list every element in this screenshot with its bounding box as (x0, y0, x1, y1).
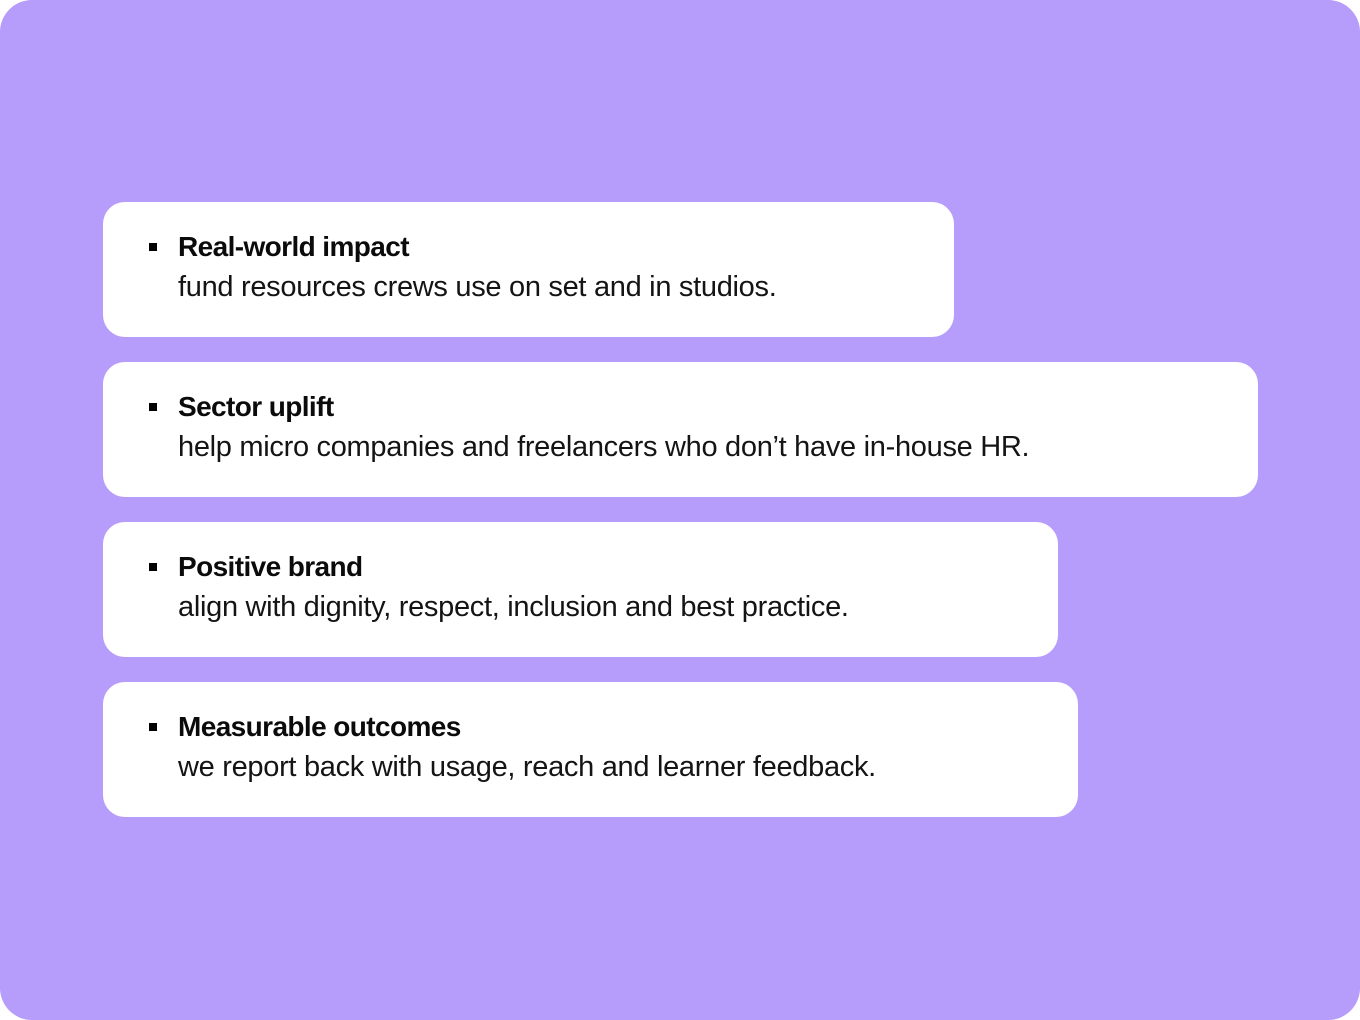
bullet-card-heading: Sector uplift (178, 388, 1224, 426)
bullet-card-body: fund resources crews use on set and in s… (178, 266, 920, 309)
bullet-card-body: align with dignity, respect, inclusion a… (178, 586, 1024, 629)
bullet-card-text: Real-world impact fund resources crews u… (178, 228, 920, 309)
bullet-card-heading: Measurable outcomes (178, 708, 1044, 746)
bullet-card-positive-brand[interactable]: Positive brand align with dignity, respe… (103, 522, 1058, 657)
bullet-card-body: we report back with usage, reach and lea… (178, 746, 1044, 789)
bullet-card-sector-uplift[interactable]: Sector uplift help micro companies and f… (103, 362, 1258, 497)
slide-panel: Real-world impact fund resources crews u… (0, 0, 1360, 1020)
bullet-card-row: Sector uplift help micro companies and f… (149, 388, 1224, 469)
square-bullet-icon (149, 563, 157, 571)
bullet-card-real-world-impact[interactable]: Real-world impact fund resources crews u… (103, 202, 954, 337)
bullet-card-heading: Real-world impact (178, 228, 920, 266)
bullet-card-heading: Positive brand (178, 548, 1024, 586)
bullet-card-row: Measurable outcomes we report back with … (149, 708, 1044, 789)
bullet-card-list: Real-world impact fund resources crews u… (103, 202, 1283, 817)
square-bullet-icon (149, 243, 157, 251)
bullet-card-body: help micro companies and freelancers who… (178, 426, 1224, 469)
bullet-card-row: Real-world impact fund resources crews u… (149, 228, 920, 309)
square-bullet-icon (149, 723, 157, 731)
bullet-card-text: Sector uplift help micro companies and f… (178, 388, 1224, 469)
square-bullet-icon (149, 403, 157, 411)
bullet-card-text: Positive brand align with dignity, respe… (178, 548, 1024, 629)
bullet-card-text: Measurable outcomes we report back with … (178, 708, 1044, 789)
bullet-card-row: Positive brand align with dignity, respe… (149, 548, 1024, 629)
bullet-card-measurable-outcomes[interactable]: Measurable outcomes we report back with … (103, 682, 1078, 817)
